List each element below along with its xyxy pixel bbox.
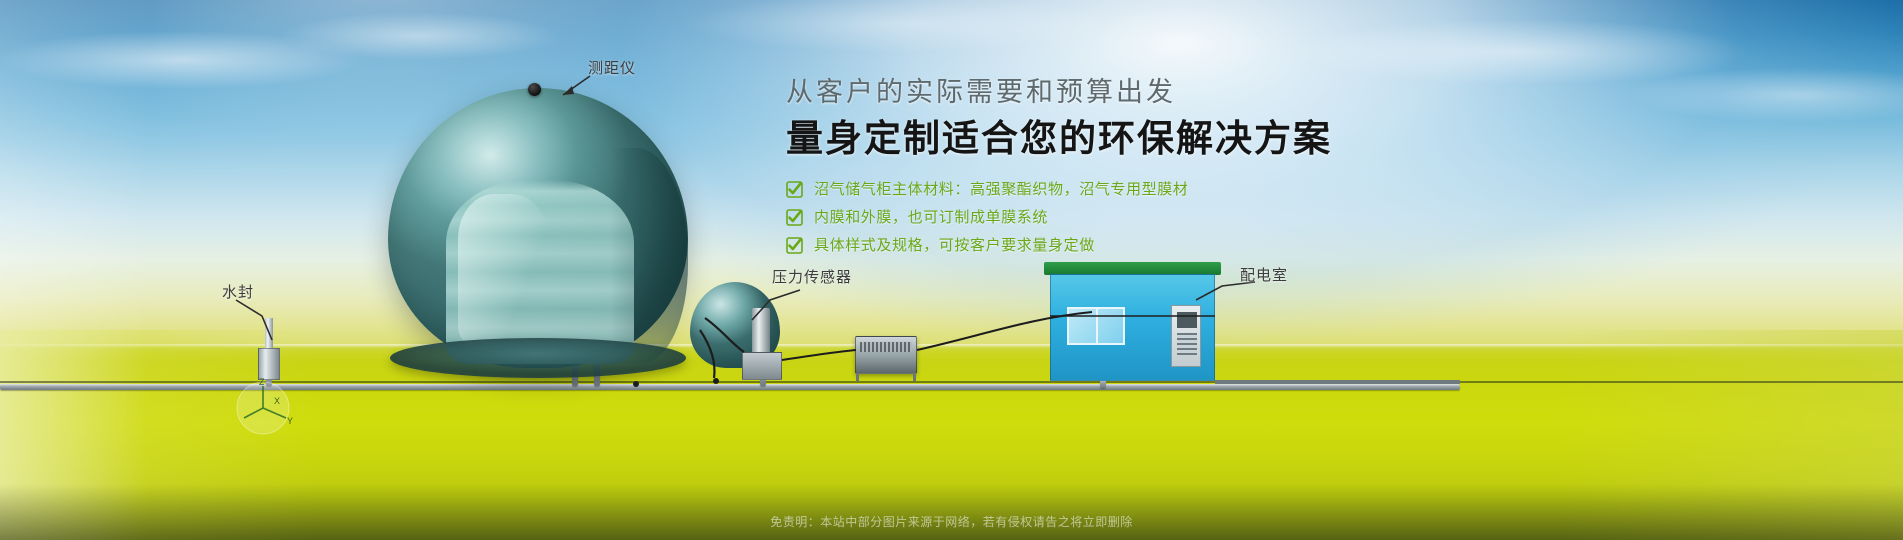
- banner-headline: 量身定制适合您的环保解决方案: [786, 118, 1346, 161]
- sensor-column: [752, 308, 770, 356]
- label-water-seal: 水封: [222, 285, 254, 300]
- label-rangefinder: 测距仪: [588, 61, 636, 76]
- banner-copy-block: 从客户的实际需要和预算出发 量身定制适合您的环保解决方案 沼气储气柜主体材料：高…: [786, 78, 1346, 265]
- sensor-base: [742, 352, 782, 380]
- rangefinder-sensor-icon: [528, 83, 541, 96]
- building-wall: [1050, 274, 1215, 381]
- gizmo-label-y: Y: [287, 416, 293, 426]
- horizon-line: [0, 344, 1903, 348]
- gizmo-label-x: X: [274, 396, 280, 406]
- banner-stage: Z Y X 测距仪 水封 压力传感器 配电室 从客户的实际需要和预算出发 量身定…: [0, 0, 1903, 540]
- bullet-label: 具体样式及规格，可按客户要求量身定做: [814, 238, 1095, 253]
- compressor-unit: [855, 336, 917, 374]
- check-icon: [786, 237, 803, 254]
- power-distribution-building: [1050, 262, 1215, 381]
- label-power-distribution-room: 配电室: [1240, 268, 1288, 283]
- banner-bullet-list: 沼气储气柜主体材料：高强聚酯织物，沼气专用型膜材 内膜和外膜，也可订制成单膜系统: [786, 181, 1346, 254]
- gizmo-label-z: Z: [259, 377, 265, 387]
- disclaimer-text: 免责明：本站中部分图片来源于网络，若有侵权请告之将立即删除: [0, 513, 1903, 530]
- bullet-item: 内膜和外膜，也可订制成单膜系统: [786, 209, 1346, 226]
- bullet-item: 沼气储气柜主体材料：高强聚酯织物，沼气专用型膜材: [786, 181, 1346, 198]
- water-seal-stack: [265, 318, 273, 352]
- compressor-legs: [856, 373, 916, 381]
- bullet-label: 内膜和外膜，也可订制成单膜系统: [814, 210, 1048, 225]
- dome-inner-highlight: [458, 194, 548, 344]
- building-window: [1067, 307, 1125, 345]
- dome-shading: [584, 148, 688, 363]
- pipe-main-horizontal: [0, 384, 1460, 390]
- check-icon: [786, 209, 803, 226]
- dome-base-rim: [390, 338, 686, 378]
- pressure-sensor-assembly: [742, 308, 782, 380]
- building-control-panel: [1171, 305, 1201, 367]
- bullet-item: 具体样式及规格，可按客户要求量身定做: [786, 237, 1346, 254]
- bullet-label: 沼气储气柜主体材料：高强聚酯织物，沼气专用型膜材: [814, 182, 1188, 197]
- bottom-vignette: [0, 484, 1903, 540]
- water-seal-unit: [258, 318, 280, 380]
- check-icon: [786, 181, 803, 198]
- banner-subheadline: 从客户的实际需要和预算出发: [786, 78, 1346, 108]
- gas-holder-dome: [388, 88, 688, 368]
- axis-orientation-gizmo: Z Y X: [228, 372, 298, 442]
- label-pressure-sensor: 压力传感器: [772, 270, 852, 285]
